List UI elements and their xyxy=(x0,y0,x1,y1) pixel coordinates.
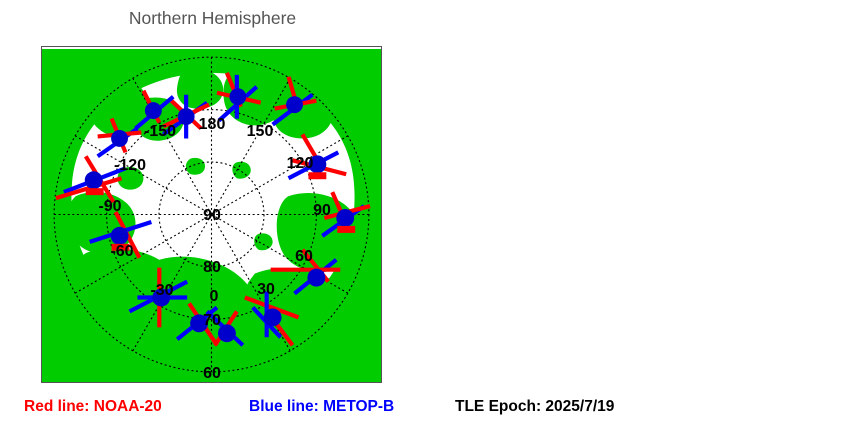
lon-label-120n: -120 xyxy=(114,158,146,174)
lon-label-180: 180 xyxy=(199,117,226,133)
legend-blue-line-metopb: Blue line: METOP-B xyxy=(249,398,394,416)
lon-label-0: 0 xyxy=(210,289,219,305)
lon-label-30: 30 xyxy=(257,282,275,298)
lat-label-70: 70 xyxy=(203,313,221,329)
swath-coverage-figure: Northern Hemisphere xyxy=(0,0,850,425)
lon-label-30n: -30 xyxy=(150,283,173,299)
lon-label-60: 60 xyxy=(295,249,313,265)
lon-label-90: 90 xyxy=(313,203,331,219)
lon-label-90n: -90 xyxy=(98,199,121,215)
legend-red-line-noaa20: Red line: NOAA-20 xyxy=(24,398,162,416)
lat-label-60: 60 xyxy=(203,366,221,382)
panel-northern-hemisphere: Northern Hemisphere xyxy=(0,0,425,425)
northern-hemisphere-title: Northern Hemisphere xyxy=(0,8,425,29)
lon-label-60n: -60 xyxy=(110,244,133,260)
panel-southern-hemisphere: Southern Hemisphere xyxy=(425,0,850,425)
lon-label-150n: -150 xyxy=(144,124,176,140)
legend-tle-epoch: TLE Epoch: 2025/7/19 xyxy=(455,398,614,416)
lat-label-80: 80 xyxy=(203,260,221,276)
northern-hemisphere-plot: 90 80 70 60 180 -150 -120 -90 -60 -30 0 … xyxy=(41,46,382,383)
lon-label-150: 150 xyxy=(247,124,274,140)
lat-label-90: 90 xyxy=(203,208,221,224)
lon-label-120: 120 xyxy=(287,156,314,172)
